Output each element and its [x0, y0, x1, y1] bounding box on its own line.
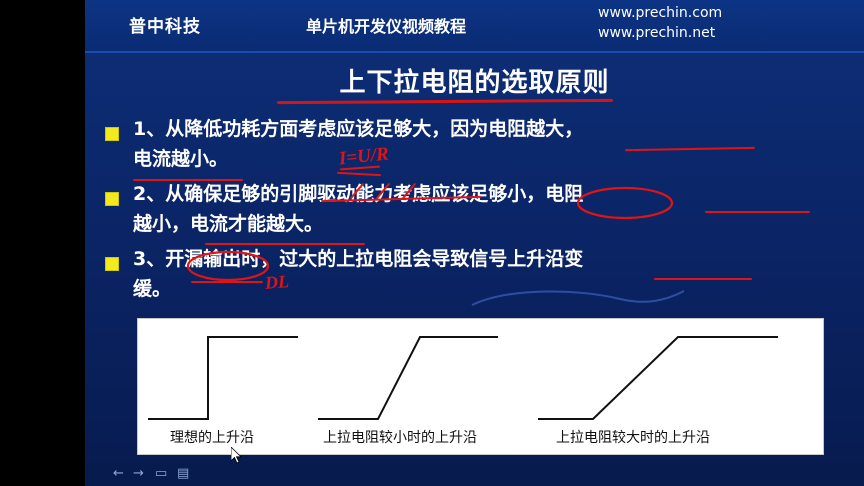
bullet-text-2: 2、从确保足够的引脚驱动能力考虑应该足够小，电阻 越小，电流才能越大。 — [133, 179, 845, 239]
left-black-bar — [0, 0, 85, 486]
header-company-name: 普中科技 — [129, 12, 201, 37]
bullet-text-1: 1、从降低功耗方面考虑应该足够大，因为电阻越大， 电流越小。 — [133, 114, 845, 174]
rising-edge-diagram: 理想的上升沿 上拉电阻较小时的上升沿 上拉电阻较大时的上升沿 — [137, 318, 824, 455]
slide-view-icon[interactable]: ▭ — [155, 467, 167, 480]
bullet-marker-icon — [105, 127, 119, 141]
mouse-cursor — [231, 447, 243, 465]
bullet-marker-icon — [105, 257, 119, 271]
title-underline-annotation — [277, 99, 613, 104]
slide-title: 上下拉电阻的选取原则 — [85, 62, 864, 99]
next-slide-icon[interactable]: → — [133, 467, 144, 480]
wave-label-2: 上拉电阻较小时的上升沿 — [323, 427, 477, 447]
bullet-marker-icon — [105, 192, 119, 206]
header-url-net: www.prechin.net — [598, 25, 715, 41]
wave-label-1: 理想的上升沿 — [170, 427, 254, 447]
bullet-text-3: 3、开漏输出时，过大的上拉电阻会导致信号上升沿变 缓。 — [133, 244, 845, 304]
prev-slide-icon[interactable]: ← — [113, 467, 124, 480]
slide-header: 普中科技 单片机开发仪视频教程 www.prechin.com www.prec… — [85, 0, 864, 52]
header-url-com: www.prechin.com — [598, 5, 722, 21]
header-course-title: 单片机开发仪视频教程 — [306, 13, 466, 37]
presentation-slide: 普中科技 单片机开发仪视频教程 www.prechin.com www.prec… — [85, 0, 864, 486]
screen: 普中科技 单片机开发仪视频教程 www.prechin.com www.prec… — [0, 0, 864, 486]
slideshow-toolbar: ← → ▭ ▤ — [85, 462, 864, 486]
wave-label-3: 上拉电阻较大时的上升沿 — [556, 427, 710, 447]
header-divider — [85, 51, 864, 53]
notes-icon[interactable]: ▤ — [177, 467, 189, 480]
